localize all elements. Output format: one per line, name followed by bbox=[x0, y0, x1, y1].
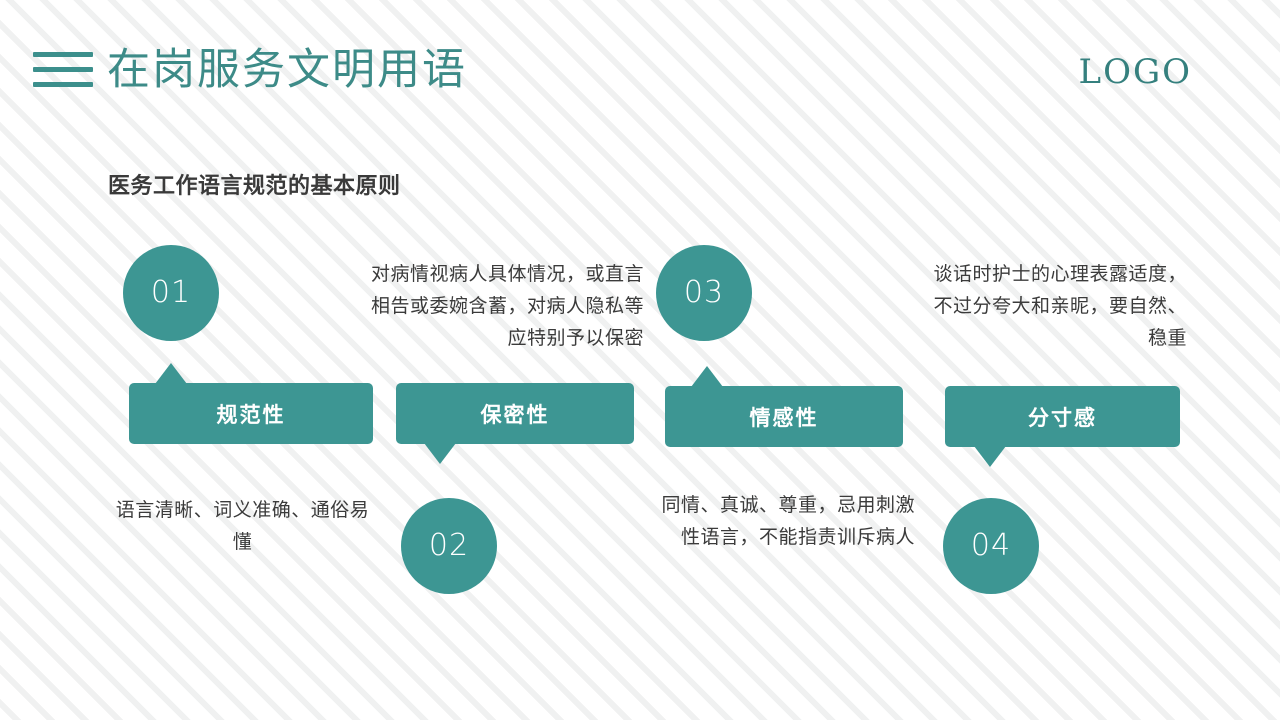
label-box-01-text: 规范性 bbox=[217, 399, 286, 429]
notch-down-icon bbox=[974, 446, 1006, 467]
slide-canvas: 在岗服务文明用语 LOGO 医务工作语言规范的基本原则 01 规范性 语言清晰、… bbox=[0, 0, 1280, 720]
label-box-04[interactable]: 分寸感 bbox=[945, 386, 1180, 447]
notch-up-icon bbox=[155, 363, 187, 384]
description-01: 语言清晰、词义准确、通俗易懂 bbox=[110, 494, 375, 558]
number-circle-01: 01 bbox=[123, 245, 219, 341]
number-circle-02: 02 bbox=[401, 498, 497, 594]
description-03: 同情、真诚、尊重，忌用刺激性语言，不能指责训斥病人 bbox=[650, 489, 915, 553]
label-box-01[interactable]: 规范性 bbox=[129, 383, 373, 444]
label-box-04-text: 分寸感 bbox=[1028, 402, 1097, 432]
number-circle-04: 04 bbox=[943, 498, 1039, 594]
label-box-03-text: 情感性 bbox=[750, 402, 819, 432]
hamburger-line-2 bbox=[33, 67, 93, 72]
label-box-02[interactable]: 保密性 bbox=[396, 383, 634, 444]
description-02: 对病情视病人具体情况，或直言相告或委婉含蓄，对病人隐私等应特别予以保密 bbox=[362, 258, 644, 354]
number-circle-03: 03 bbox=[656, 245, 752, 341]
hamburger-icon[interactable] bbox=[33, 52, 93, 86]
notch-up-icon bbox=[691, 366, 723, 387]
description-04: 谈话时护士的心理表露适度，不过分夸大和亲昵，要自然、稳重 bbox=[925, 258, 1187, 354]
label-box-02-text: 保密性 bbox=[481, 399, 550, 429]
notch-down-icon bbox=[424, 443, 456, 464]
hamburger-line-1 bbox=[33, 52, 93, 57]
section-heading: 医务工作语言规范的基本原则 bbox=[108, 168, 401, 200]
logo-placeholder: LOGO bbox=[1079, 52, 1193, 92]
hamburger-line-3 bbox=[33, 82, 93, 87]
label-box-03[interactable]: 情感性 bbox=[665, 386, 903, 447]
page-title: 在岗服务文明用语 bbox=[107, 41, 467, 99]
